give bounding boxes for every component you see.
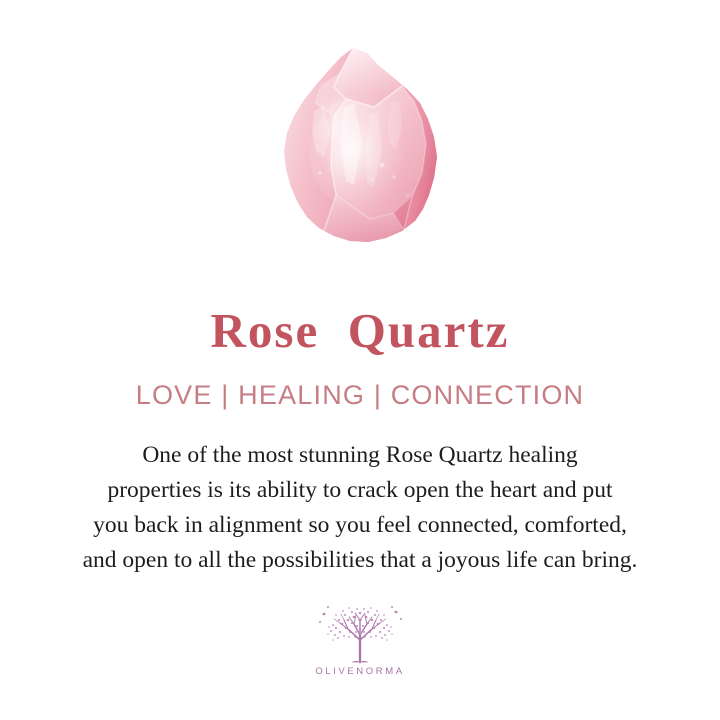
crystal-illustration [274,45,446,250]
brand-wordmark: OLIVENORMA [315,667,404,677]
infographic-page: Rose Quartz LOVE | HEALING | CONNECTION … [0,0,720,720]
description-line: One of the most stunning Rose Quartz hea… [24,438,696,473]
subtitle-keywords: LOVE | HEALING | CONNECTION [136,382,585,409]
tree-icon [314,602,406,664]
crystal-sparkle-5 [406,193,409,196]
crystal-sparkle-3 [370,177,373,180]
crystal-sparkle-4 [318,171,322,175]
description-line: properties is its ability to crack open … [24,473,696,508]
description-line: and open to all the possibilities that a… [24,543,696,578]
description-line: you back in alignment so you feel connec… [24,508,696,543]
brand-logo: OLIVENORMA [301,602,419,677]
crystal-sparkle-2 [392,175,396,179]
crystal-sparkle-1 [380,163,385,168]
page-title: Rose Quartz [211,306,510,355]
description-paragraph: One of the most stunning Rose Quartz hea… [24,438,696,578]
hero-section [0,0,720,262]
rose-quartz-crystal-image [274,45,446,250]
